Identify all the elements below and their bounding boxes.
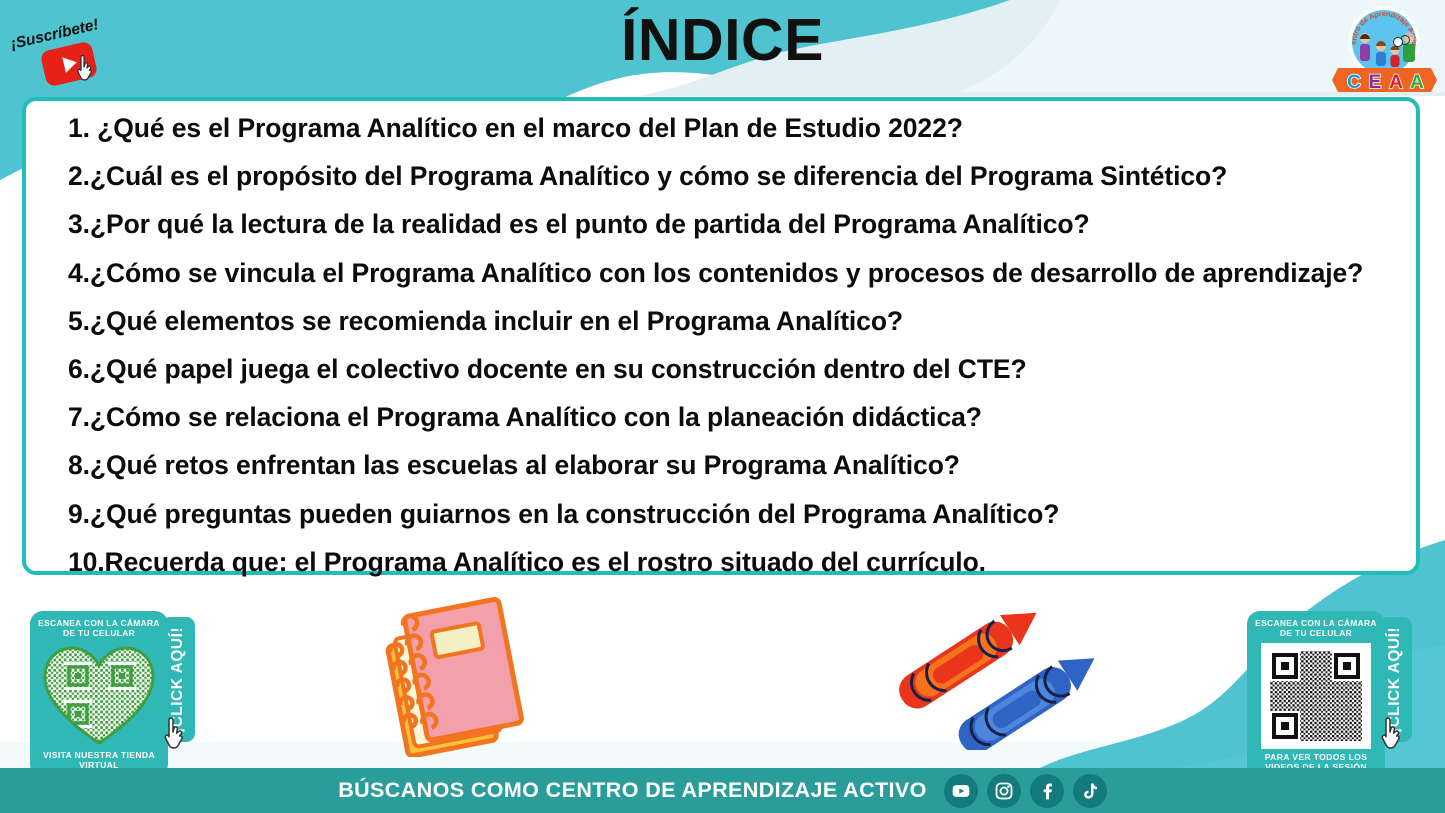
qr-caption-left: ESCANEA CON LA CÁMARA DE TU CELULAR	[35, 618, 163, 639]
youtube-icon[interactable]	[944, 774, 978, 808]
tiktok-icon[interactable]	[1073, 774, 1107, 808]
list-item: 4.¿Cómo se vincula el Programa Analítico…	[26, 260, 1416, 308]
qr-badge-right[interactable]: ESCANEA CON LA CÁMARA DE TU CELULAR	[1247, 611, 1385, 779]
hand-pointer-icon	[72, 52, 106, 86]
list-item: 10.Recuerda que: el Programa Analítico e…	[26, 549, 1416, 597]
crayons-illustration	[872, 600, 1100, 750]
list-item: 2.¿Cuál es el propósito del Programa Ana…	[26, 163, 1416, 211]
qr-badge-left[interactable]: ESCANEA CON LA CÁMARA DE TU CELULAR	[30, 611, 168, 777]
list-item-text: 2.¿Cuál es el propósito del Programa Ana…	[68, 163, 1227, 190]
list-item: 5.¿Qué elementos se recomienda incluir e…	[26, 308, 1416, 356]
list-item: 7.¿Cómo se relaciona el Programa Analíti…	[26, 404, 1416, 452]
list-item: 3.¿Por qué la lectura de la realidad es …	[26, 211, 1416, 259]
logo-letter-a1: A	[1389, 72, 1403, 93]
list-item: 6.¿Qué papel juega el colectivo docente …	[26, 356, 1416, 404]
heart-qr-icon	[43, 643, 155, 747]
list-item-text: 1. ¿Qué es el Programa Analítico en el m…	[68, 115, 963, 142]
index-list: 1. ¿Qué es el Programa Analítico en el m…	[26, 115, 1416, 597]
list-item-text: 6.¿Qué papel juega el colectivo docente …	[68, 356, 1027, 383]
instagram-icon[interactable]	[987, 774, 1021, 808]
list-item-text: 4.¿Cómo se vincula el Programa Analítico…	[68, 260, 1363, 287]
slide-canvas: ¡Suscríbete! ÍNDICE Centro de Aprendizaj…	[0, 0, 1445, 813]
footer-text: BÚSCANOS COMO CENTRO DE APRENDIZAJE ACTI…	[338, 778, 927, 803]
list-item: 8.¿Qué retos enfrentan las escuelas al e…	[26, 452, 1416, 500]
qr-caption-right: ESCANEA CON LA CÁMARA DE TU CELULAR	[1252, 618, 1380, 639]
list-item: 1. ¿Qué es el Programa Analítico en el m…	[26, 115, 1416, 163]
facebook-icon[interactable]	[1030, 774, 1064, 808]
logo-letter-e: E	[1369, 72, 1382, 93]
logo-letter-c: C	[1347, 72, 1361, 93]
list-item-text: 9.¿Qué preguntas pueden guiarnos en la c…	[68, 501, 1059, 528]
social-links	[944, 774, 1107, 808]
qr-code-left[interactable]	[43, 643, 155, 747]
square-qr-icon	[1266, 647, 1366, 745]
hand-pointer-icon-right	[1375, 713, 1415, 753]
index-card: 1. ¿Qué es el Programa Analítico en el m…	[22, 97, 1420, 575]
list-item-text: 8.¿Qué retos enfrentan las escuelas al e…	[68, 452, 960, 479]
footer-bar: BÚSCANOS COMO CENTRO DE APRENDIZAJE ACTI…	[0, 768, 1445, 813]
list-item-text: 7.¿Cómo se relaciona el Programa Analíti…	[68, 404, 982, 431]
ceaa-logo: Centro de Aprendizaje Activo C E A A	[1332, 2, 1437, 97]
list-item-text: 5.¿Qué elementos se recomienda incluir e…	[68, 308, 903, 335]
logo-letter-a2: A	[1410, 72, 1424, 93]
page-title: ÍNDICE	[0, 6, 1445, 74]
list-item: 9.¿Qué preguntas pueden guiarnos en la c…	[26, 501, 1416, 549]
subscribe-badge[interactable]: ¡Suscríbete!	[6, 8, 126, 88]
hand-pointer-icon-left	[158, 713, 198, 753]
list-item-text: 10.Recuerda que: el Programa Analítico e…	[68, 549, 986, 576]
spiral-notebooks-illustration	[378, 592, 556, 757]
list-item-text: 3.¿Por qué la lectura de la realidad es …	[68, 211, 1090, 238]
qr-code-right[interactable]	[1261, 643, 1371, 749]
